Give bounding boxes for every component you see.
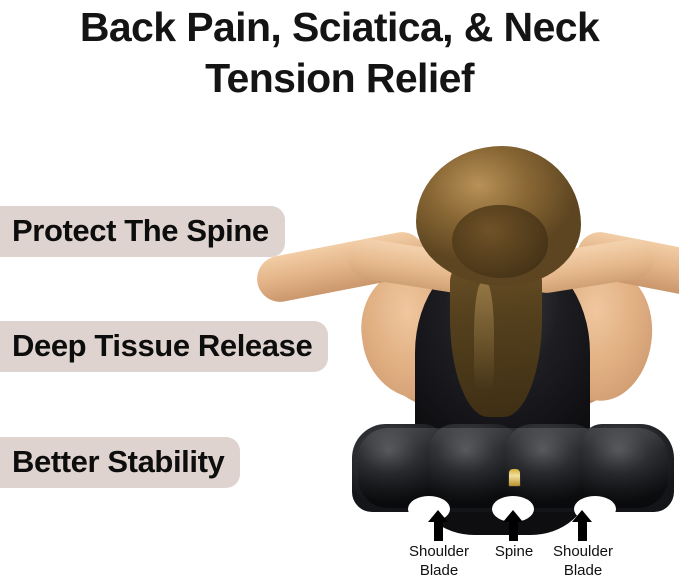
up-arrow-icon (578, 521, 587, 541)
annotation-label-shoulder-blade-right: Shoulder Blade (528, 542, 638, 580)
feature-label-better-stability: Better Stability (0, 437, 240, 488)
hair-bun (416, 146, 581, 286)
feature-label-text: Protect The Spine (12, 213, 269, 248)
annotation-line-2: Blade (528, 561, 638, 580)
foam-roller (352, 424, 674, 512)
annotation-line-1: Shoulder (528, 542, 638, 561)
feature-label-text: Better Stability (12, 444, 224, 479)
annotation-line-2: Blade (384, 561, 494, 580)
feature-label-deep-tissue-release: Deep Tissue Release (0, 321, 328, 372)
product-infographic: Back Pain, Sciatica, & Neck Tension Reli… (0, 0, 679, 582)
feature-label-text: Deep Tissue Release (12, 328, 312, 363)
headline-line-2: Tension Relief (0, 53, 679, 104)
page-title: Back Pain, Sciatica, & Neck Tension Reli… (0, 2, 679, 104)
up-arrow-icon (434, 521, 443, 541)
feature-label-protect-the-spine: Protect The Spine (0, 206, 285, 257)
up-arrow-icon (509, 521, 518, 541)
brand-logo-icon (508, 468, 521, 487)
headline-line-1: Back Pain, Sciatica, & Neck (0, 2, 679, 53)
